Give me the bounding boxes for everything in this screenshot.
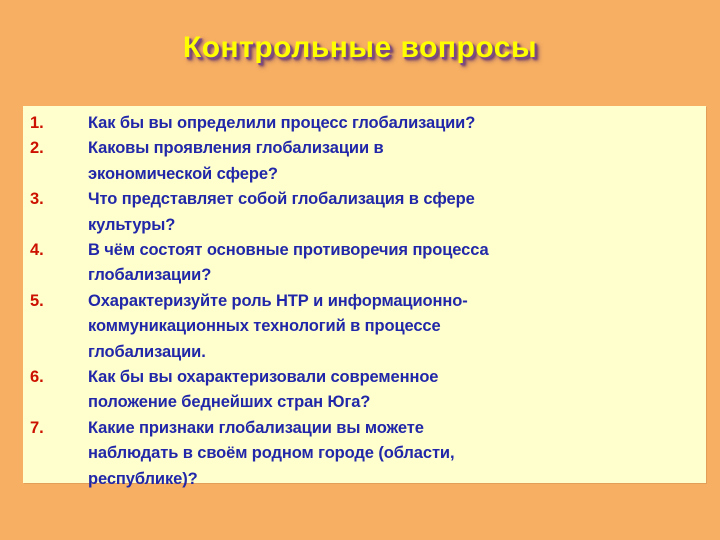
- list-item: 7. Какие признаки глобализации вы можете…: [27, 416, 698, 492]
- list-item: 6. Как бы вы охарактеризовали современно…: [27, 365, 698, 416]
- list-item-text: Каковы проявления глобализации в экономи…: [88, 136, 698, 187]
- list-item: 3. Что представляет собой глобализация в…: [27, 187, 698, 238]
- list-item-text: Как бы вы определили процесс глобализаци…: [88, 111, 698, 136]
- slide-canvas: Контрольные вопросы 1. Как бы вы определ…: [0, 0, 720, 540]
- list-item-number: 6.: [30, 365, 76, 390]
- question-list: 1. Как бы вы определили процесс глобализ…: [27, 111, 698, 492]
- list-item-number: 2.: [30, 136, 76, 161]
- list-item-number: 5.: [30, 289, 76, 314]
- list-item: 2. Каковы проявления глобализации в экон…: [27, 136, 698, 187]
- list-item-text: Какие признаки глобализации вы можете на…: [88, 416, 698, 492]
- list-item-text: Охарактеризуйте роль НТР и информационно…: [88, 289, 698, 365]
- list-item-number: 7.: [30, 416, 76, 441]
- content-panel: 1. Как бы вы определили процесс глобализ…: [23, 106, 706, 483]
- list-item-number: 4.: [30, 238, 76, 263]
- list-item: 4. В чём состоят основные противоречия п…: [27, 238, 698, 289]
- list-item: 1. Как бы вы определили процесс глобализ…: [27, 111, 698, 136]
- list-item-number: 3.: [30, 187, 76, 212]
- list-item-text: Что представляет собой глобализация в сф…: [88, 187, 698, 238]
- list-item: 5. Охарактеризуйте роль НТР и информацио…: [27, 289, 698, 365]
- page-title: Контрольные вопросы: [0, 28, 720, 68]
- list-item-text: Как бы вы охарактеризовали современное п…: [88, 365, 698, 416]
- list-item-text: В чём состоят основные противоречия проц…: [88, 238, 698, 289]
- list-item-number: 1.: [30, 111, 76, 136]
